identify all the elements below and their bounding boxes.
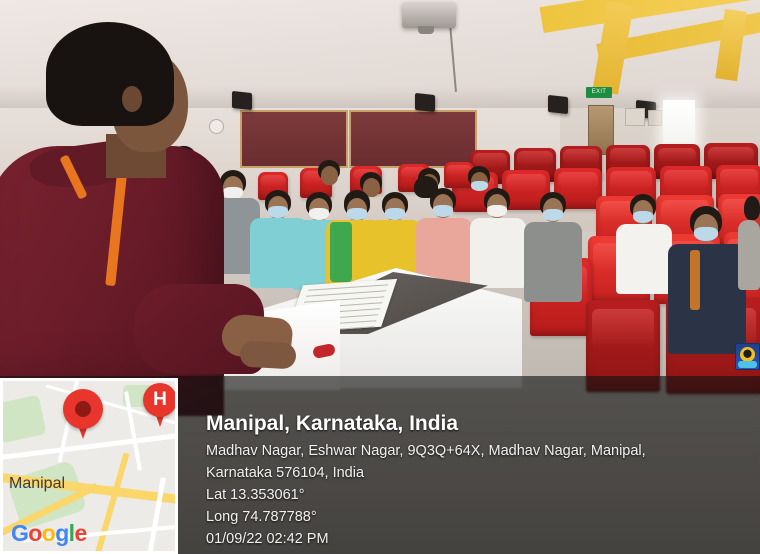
acoustic-wall-panel bbox=[240, 110, 348, 168]
ceiling-projector bbox=[402, 2, 456, 28]
location-pin-icon bbox=[63, 389, 103, 439]
gps-info-block: Manipal, Karnataka, India Madhav Nagar, … bbox=[206, 412, 752, 550]
presenter bbox=[0, 16, 232, 396]
map-thumbnail[interactable]: H Manipal Google bbox=[0, 378, 178, 554]
gps-address-line-2: Karnataka 576104, India bbox=[206, 462, 752, 484]
presenter-hand bbox=[239, 341, 296, 370]
google-logo-letter: o bbox=[28, 520, 41, 546]
hospital-marker-icon: H bbox=[143, 383, 177, 427]
presenter-hair bbox=[46, 22, 174, 126]
gps-address-line-1: Madhav Nagar, Eshwar Nagar, 9Q3Q+64X, Ma… bbox=[206, 440, 752, 462]
google-logo-letter: o bbox=[42, 520, 55, 546]
gps-longitude: Long 74.787788° bbox=[206, 506, 752, 528]
gps-latitude: Lat 13.353061° bbox=[206, 484, 752, 506]
exit-sign: EXIT bbox=[586, 87, 612, 98]
google-logo-letter: G bbox=[11, 520, 28, 546]
google-logo-letter: e bbox=[74, 520, 86, 546]
exit-sign-label: EXIT bbox=[586, 87, 612, 98]
gps-timestamp: 01/09/22 02:42 PM bbox=[206, 528, 752, 550]
wall-speaker bbox=[415, 93, 435, 112]
wall-switchboard bbox=[625, 108, 645, 126]
gps-stamp-overlay: H Manipal Google Manipal, Karnataka, Ind… bbox=[0, 376, 760, 554]
gps-location-title: Manipal, Karnataka, India bbox=[206, 412, 752, 436]
google-logo-letter: g bbox=[55, 520, 68, 546]
hospital-marker-letter: H bbox=[143, 383, 177, 417]
map-place-label: Manipal bbox=[9, 475, 65, 493]
screenshot-root: EXIT bbox=[0, 0, 760, 554]
acoustic-wall-panel bbox=[349, 110, 477, 168]
presenter-ear bbox=[122, 86, 142, 112]
wall-speaker bbox=[232, 91, 252, 110]
app-icon-lens bbox=[740, 347, 755, 362]
wall-speaker bbox=[548, 95, 568, 114]
wall-switchboard bbox=[648, 110, 662, 126]
gps-map-camera-app-icon bbox=[735, 343, 760, 370]
app-icon-base bbox=[738, 361, 757, 368]
google-logo: Google bbox=[11, 520, 87, 547]
